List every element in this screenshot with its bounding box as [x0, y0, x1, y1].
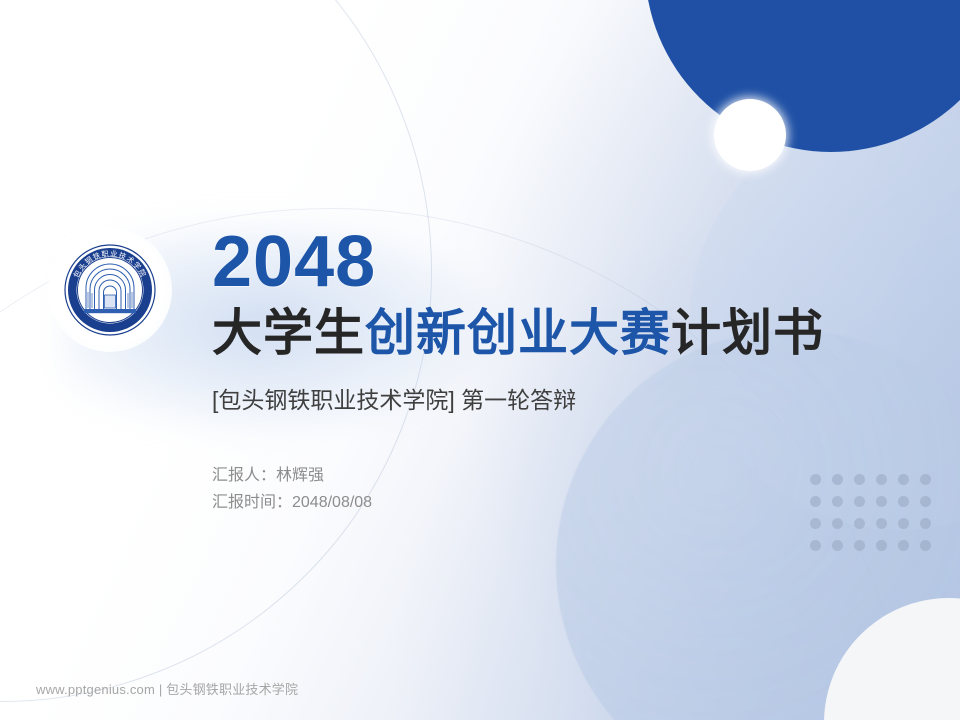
- grid-dot: [854, 518, 865, 529]
- school-logo: 包头钢铁职业技术学院 BAOTOU IRON & STEEL: [48, 228, 172, 352]
- grid-dot: [920, 474, 931, 485]
- title-text-block: 2048 大学生创新创业大赛计划书 [包头钢铁职业技术学院] 第一轮答辩 汇报人…: [212, 224, 912, 516]
- school-emblem-icon: 包头钢铁职业技术学院 BAOTOU IRON & STEEL: [60, 240, 160, 340]
- title-segment-1: 大学生: [212, 305, 365, 361]
- grid-dot: [876, 540, 887, 551]
- grid-dot: [810, 540, 821, 551]
- presentation-slide: 包头钢铁职业技术学院 BAOTOU IRON & STEEL: [0, 0, 960, 720]
- presenter-line: 汇报人：林辉强: [212, 462, 912, 489]
- year-heading: 2048: [212, 224, 912, 300]
- title-segment-3: 计划书: [671, 305, 824, 361]
- grid-dot: [854, 540, 865, 551]
- grid-dot: [810, 518, 821, 529]
- title-segment-2: 创新创业大赛: [365, 305, 671, 361]
- grid-dot: [898, 518, 909, 529]
- date-line: 汇报时间：2048/08/08: [212, 489, 912, 516]
- footer-credit: www.pptgenius.com | 包头钢铁职业技术学院: [36, 679, 298, 698]
- subtitle: [包头钢铁职业技术学院] 第一轮答辩: [212, 384, 912, 416]
- grid-dot: [920, 496, 931, 507]
- grid-dot: [832, 518, 843, 529]
- grid-dot: [920, 518, 931, 529]
- white-accent-dot-decoration: [714, 99, 786, 171]
- presentation-meta: 汇报人：林辉强 汇报时间：2048/08/08: [212, 462, 912, 516]
- grid-dot: [832, 540, 843, 551]
- grid-dot: [920, 540, 931, 551]
- grid-dot: [876, 518, 887, 529]
- grid-dot: [898, 540, 909, 551]
- page-title: 大学生创新创业大赛计划书: [212, 304, 912, 362]
